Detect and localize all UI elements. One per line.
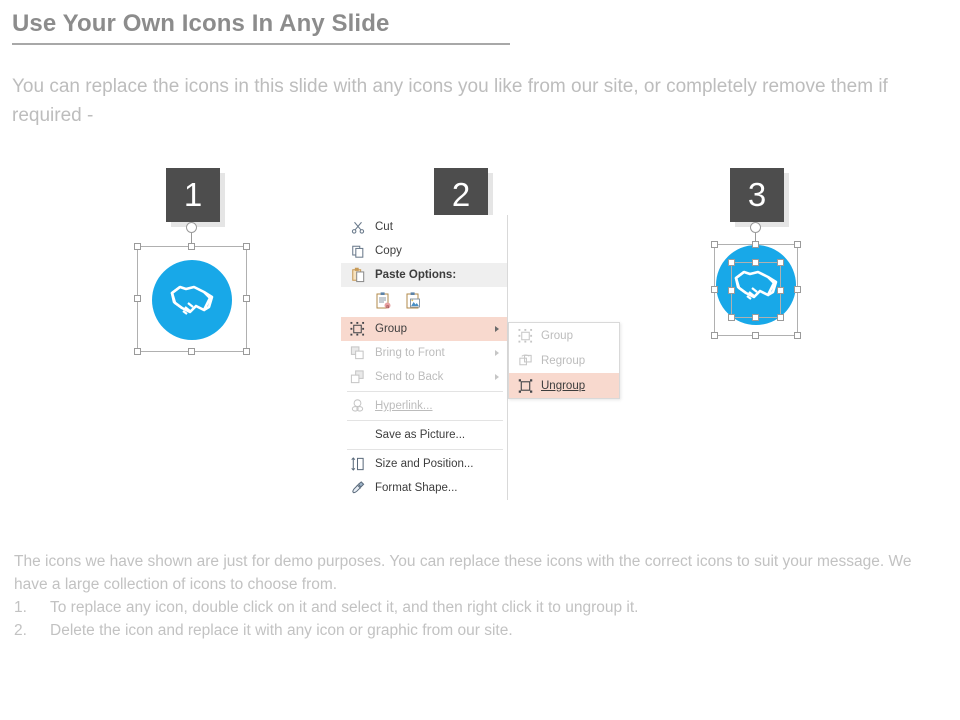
format-shape-icon	[349, 480, 366, 497]
hyperlink-icon	[349, 398, 366, 415]
handshake-icon	[152, 260, 232, 340]
note-list-item-1: 1. To replace any icon, double click on …	[14, 596, 944, 619]
group-icon	[349, 321, 366, 338]
note-text-1: To replace any icon, double click on it …	[50, 596, 638, 619]
note-text-2: Delete the icon and replace it with any …	[50, 619, 513, 642]
note-number-1: 1.	[14, 596, 50, 619]
inner-handle-w-3[interactable]	[728, 287, 735, 294]
menu-label-bring-to-front: Bring to Front	[375, 347, 445, 359]
submenu-label-regroup: Regroup	[541, 355, 585, 367]
selection-handle-sw-1[interactable]	[134, 348, 141, 355]
bring-to-front-icon	[349, 345, 366, 362]
menu-label-paste-options: Paste Options:	[375, 269, 456, 281]
menu-item-cut[interactable]: Cut	[341, 215, 507, 239]
selection-handle-w-1[interactable]	[134, 295, 141, 302]
handshake-icon-circle-1[interactable]	[152, 260, 232, 340]
menu-item-group[interactable]: Group	[341, 317, 507, 341]
note-list-item-2: 2. Delete the icon and replace it with a…	[14, 619, 944, 642]
inner-handle-nw-3[interactable]	[728, 259, 735, 266]
menu-label-group: Group	[375, 323, 407, 335]
submenu-item-ungroup[interactable]: Ungroup	[509, 373, 619, 398]
menu-item-send-to-back: Send to Back	[341, 365, 507, 389]
outer-handle-e-3[interactable]	[794, 286, 801, 293]
outer-handle-n-3[interactable]	[752, 241, 759, 248]
rotation-handle-3[interactable]	[750, 222, 761, 233]
page-title: Use Your Own Icons In Any Slide	[12, 10, 389, 38]
outer-handle-se-3[interactable]	[794, 332, 801, 339]
inner-selection-frame-3[interactable]	[731, 262, 781, 318]
selection-handle-se-1[interactable]	[243, 348, 250, 355]
menu-label-cut: Cut	[375, 221, 393, 233]
submenu-label-group: Group	[541, 330, 573, 342]
group-submenu[interactable]: Group Regroup Ungroup	[508, 322, 620, 399]
step-badge-2: 2	[434, 168, 488, 222]
title-underline	[12, 43, 510, 45]
group-icon-sub	[517, 327, 534, 344]
inner-handle-se-3[interactable]	[777, 314, 784, 321]
send-to-back-icon	[349, 369, 366, 386]
outer-handle-sw-3[interactable]	[711, 332, 718, 339]
menu-label-save-as-picture: Save as Picture...	[375, 429, 465, 441]
menu-item-paste-options: Paste Options:	[341, 263, 507, 287]
scissors-icon	[349, 219, 366, 236]
menu-separator-3	[347, 449, 503, 450]
note-number-2: 2.	[14, 619, 50, 642]
inner-handle-sw-3[interactable]	[728, 314, 735, 321]
selection-handle-e-1[interactable]	[243, 295, 250, 302]
selection-handle-ne-1[interactable]	[243, 243, 250, 250]
regroup-icon	[517, 352, 534, 369]
submenu-item-group: Group	[509, 323, 619, 348]
menu-item-bring-to-front: Bring to Front	[341, 341, 507, 365]
chevron-right-icon-group	[495, 326, 499, 332]
menu-separator-1	[347, 391, 503, 392]
outer-handle-s-3[interactable]	[752, 332, 759, 339]
chevron-right-icon-bring-to-front	[495, 350, 499, 356]
page-subtitle: You can replace the icons in this slide …	[12, 72, 954, 130]
inner-handle-n-3[interactable]	[752, 259, 759, 266]
svg-text:a: a	[386, 304, 389, 310]
menu-item-copy[interactable]: Copy	[341, 239, 507, 263]
outer-handle-w-3[interactable]	[711, 286, 718, 293]
menu-item-hyperlink: Hyperlink...	[341, 394, 507, 418]
menu-item-format-shape[interactable]: Format Shape...	[341, 476, 507, 500]
paste-icon	[349, 267, 366, 284]
outer-handle-ne-3[interactable]	[794, 241, 801, 248]
menu-label-hyperlink: Hyperlink...	[375, 400, 433, 412]
context-menu[interactable]: Cut Copy Paste Options:	[341, 215, 508, 500]
notes-list: 1. To replace any icon, double click on …	[14, 596, 944, 642]
menu-separator-2	[347, 420, 503, 421]
inner-handle-e-3[interactable]	[777, 287, 784, 294]
step-badge-1: 1	[166, 168, 220, 222]
inner-handle-ne-3[interactable]	[777, 259, 784, 266]
menu-item-save-as-picture[interactable]: Save as Picture...	[341, 423, 507, 447]
selection-handle-nw-1[interactable]	[134, 243, 141, 250]
paste-keep-source-formatting-icon[interactable]: a	[375, 291, 393, 313]
ungroup-icon	[517, 377, 534, 394]
inner-handle-s-3[interactable]	[752, 314, 759, 321]
menu-item-size-and-position[interactable]: Size and Position...	[341, 452, 507, 476]
rotation-handle-1[interactable]	[186, 222, 197, 233]
menu-label-send-to-back: Send to Back	[375, 371, 443, 383]
submenu-item-regroup: Regroup	[509, 348, 619, 373]
outer-handle-nw-3[interactable]	[711, 241, 718, 248]
size-position-icon	[349, 456, 366, 473]
submenu-label-ungroup: Ungroup	[541, 380, 585, 392]
copy-icon	[349, 243, 366, 260]
selection-handle-n-1[interactable]	[188, 243, 195, 250]
paste-options-row[interactable]: a	[341, 287, 507, 317]
menu-label-copy: Copy	[375, 245, 402, 257]
step-badge-3: 3	[730, 168, 784, 222]
paste-picture-icon[interactable]	[405, 291, 423, 313]
chevron-right-icon-send-to-back	[495, 374, 499, 380]
notes-block: The icons we have shown are just for dem…	[14, 550, 944, 642]
selection-handle-s-1[interactable]	[188, 348, 195, 355]
menu-label-size-and-position: Size and Position...	[375, 458, 473, 470]
menu-label-format-shape: Format Shape...	[375, 482, 457, 494]
notes-paragraph: The icons we have shown are just for dem…	[14, 550, 944, 596]
